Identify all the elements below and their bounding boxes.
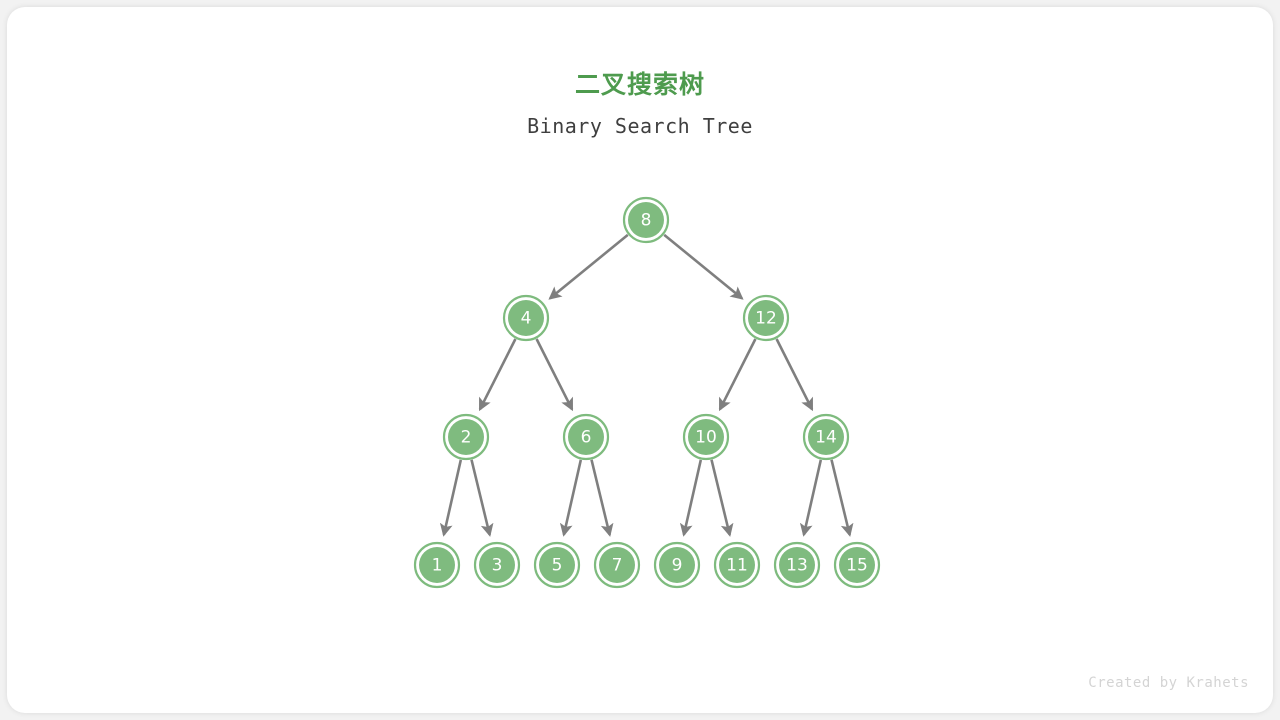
node-label: 6 [581,428,592,448]
node-label: 3 [492,556,503,576]
tree-node-9[interactable]: 9 [655,543,699,587]
node-label: 15 [846,556,868,576]
binary-search-tree-diagram: 841226101413579111315 [7,7,1273,713]
diagram-card: 二叉搜索树 Binary Search Tree 841226101413579… [7,7,1273,713]
node-label: 8 [641,211,652,231]
tree-edge-n8-to-n12 [664,235,742,299]
tree-edges [444,235,850,535]
tree-node-1[interactable]: 1 [415,543,459,587]
tree-node-13[interactable]: 13 [775,543,819,587]
tree-node-4[interactable]: 4 [504,296,548,340]
tree-edge-n4-to-n6 [537,339,572,409]
node-label: 14 [815,428,837,448]
tree-node-14[interactable]: 14 [804,415,848,459]
tree-edge-n12-to-n14 [777,339,812,409]
tree-node-15[interactable]: 15 [835,543,879,587]
tree-edge-n4-to-n2 [480,339,515,409]
tree-node-8[interactable]: 8 [624,198,668,242]
tree-node-11[interactable]: 11 [715,543,759,587]
tree-edge-n6-to-n5 [564,460,581,535]
watermark-credit: Created by Krahets [1088,675,1249,691]
node-label: 2 [461,428,472,448]
tree-edge-n6-to-n7 [592,460,610,535]
node-label: 1 [432,556,443,576]
tree-node-10[interactable]: 10 [684,415,728,459]
tree-edge-n14-to-n15 [832,460,850,535]
node-label: 7 [612,556,623,576]
node-label: 12 [755,309,777,329]
tree-edge-n10-to-n9 [684,460,701,535]
tree-nodes: 841226101413579111315 [415,198,879,587]
screenshot-stage: 二叉搜索树 Binary Search Tree 841226101413579… [0,0,1280,720]
node-label: 4 [521,309,532,329]
tree-node-7[interactable]: 7 [595,543,639,587]
tree-node-6[interactable]: 6 [564,415,608,459]
tree-node-12[interactable]: 12 [744,296,788,340]
node-label: 13 [786,556,808,576]
tree-edge-n14-to-n13 [804,460,821,535]
node-label: 9 [672,556,683,576]
tree-edge-n10-to-n11 [712,460,730,535]
tree-edge-n12-to-n10 [720,339,755,409]
node-label: 10 [695,428,717,448]
tree-edge-n2-to-n3 [472,460,490,535]
node-label: 11 [726,556,748,576]
tree-edge-n2-to-n1 [444,460,461,535]
node-label: 5 [552,556,563,576]
tree-node-2[interactable]: 2 [444,415,488,459]
tree-node-5[interactable]: 5 [535,543,579,587]
tree-edge-n8-to-n4 [550,235,628,299]
tree-node-3[interactable]: 3 [475,543,519,587]
